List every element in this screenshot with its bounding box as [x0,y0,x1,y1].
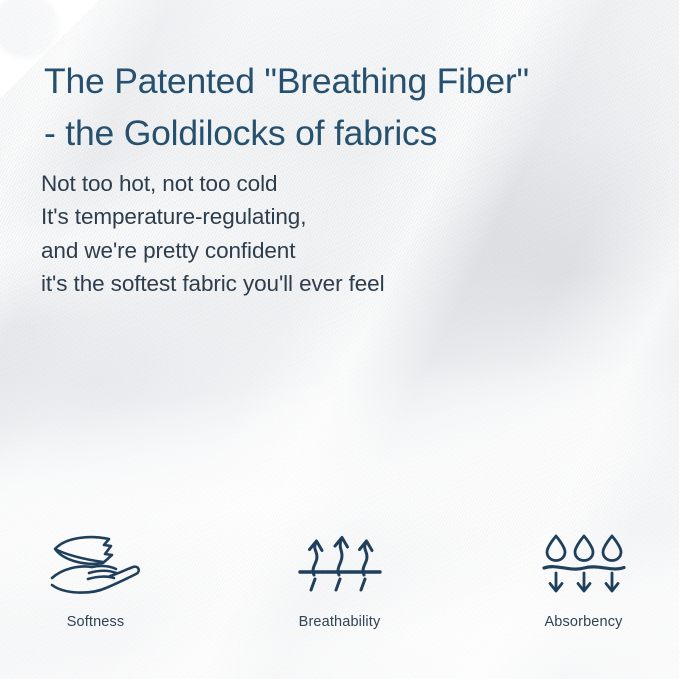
feather-on-hand-icon [48,533,144,595]
airflow-arrows-icon [297,533,383,595]
feature-label-breathability: Breathability [299,614,381,630]
feature-label-absorbency: Absorbency [544,614,622,630]
water-droplets-down-arrows-icon [541,533,627,595]
product-feature-card: The Patented "Breathing Fiber" - the Gol… [0,0,679,679]
feature-item-softness: Softness [26,533,166,630]
subheadline-copy: Not too hot, not too cold It's temperatu… [41,167,561,301]
feature-label-softness: Softness [67,614,125,630]
headline: The Patented "Breathing Fiber" - the Gol… [44,55,668,159]
feature-item-breathability: Breathability [270,533,410,630]
feature-item-absorbency: Absorbency [514,533,654,630]
content-container: The Patented "Breathing Fiber" - the Gol… [0,0,679,679]
feature-list: Softness [0,533,679,630]
